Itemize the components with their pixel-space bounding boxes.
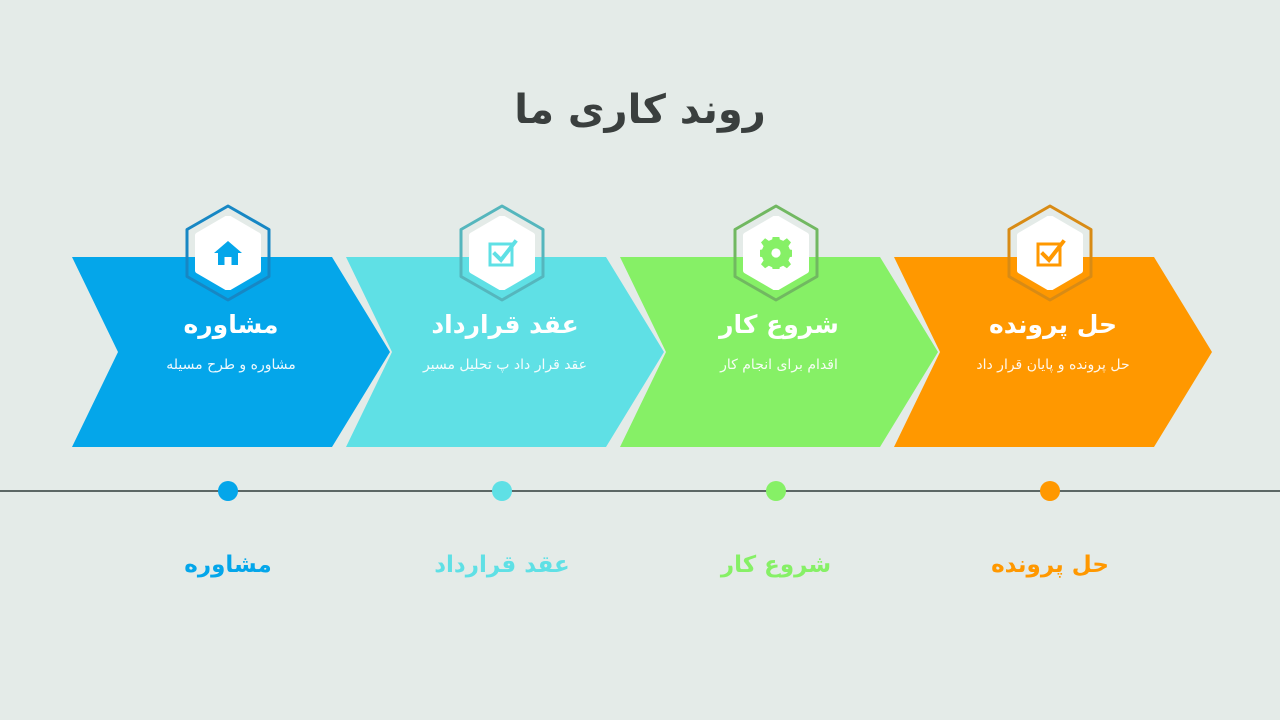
timeline-dot-1[interactable] [218,481,238,501]
step-badge-3[interactable] [731,203,821,303]
timeline-dot-3[interactable] [766,481,786,501]
timeline-label-1: مشاوره [98,552,358,578]
gear-icon [760,237,792,269]
timeline-label-4: حل پرونده [920,552,1180,578]
timeline-dot-2[interactable] [492,481,512,501]
step-badge-2[interactable] [457,203,547,303]
check-square-icon [1034,237,1066,269]
check-square-icon [486,237,518,269]
slide-canvas: روند کاری ما مشاوره مشاوره و طرح مسیله ع… [0,0,1280,720]
step-badge-4[interactable] [1005,203,1095,303]
step-badge-1[interactable] [183,203,273,303]
timeline-axis [0,490,1280,492]
page-title: روند کاری ما [0,86,1280,134]
timeline-label-3: شروع کار [646,552,906,578]
home-icon [212,237,244,269]
timeline-dot-4[interactable] [1040,481,1060,501]
timeline-label-2: عقد قرارداد [372,552,632,578]
